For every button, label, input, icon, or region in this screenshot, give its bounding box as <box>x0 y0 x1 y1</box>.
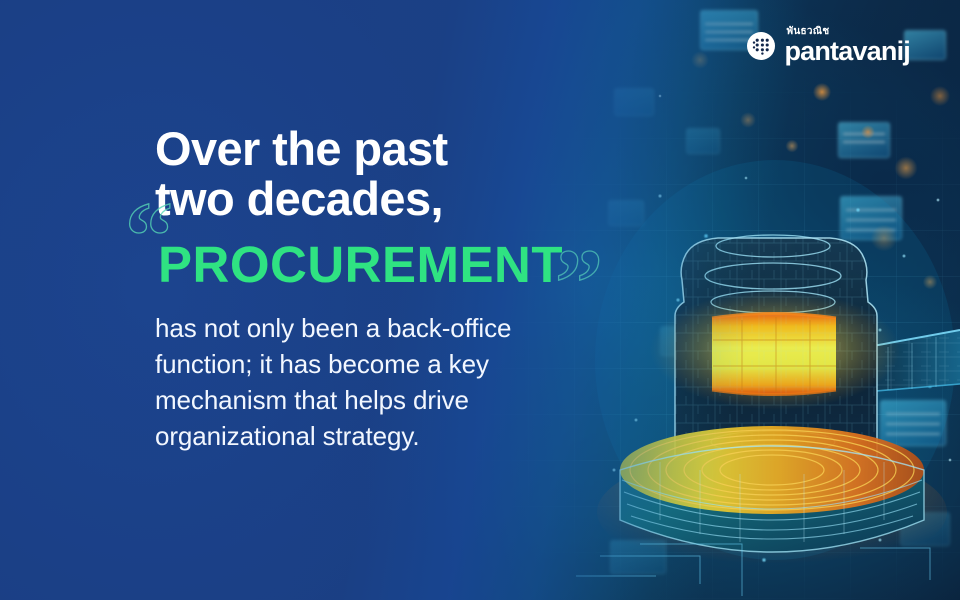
logo-latin-name: pantavanij <box>784 38 910 65</box>
quote-text-block: Over the past two decades, “ PROCUREMENT… <box>155 124 625 454</box>
headline-line-1: Over the past <box>155 124 625 174</box>
body-line-1: has not only been a back-office <box>155 310 625 346</box>
headline: Over the past two decades, <box>155 124 625 224</box>
emphasis-word: PROCUREMENT <box>158 236 563 294</box>
logo-wordmark: พันธวณิช pantavanij <box>784 27 910 65</box>
pantavanij-logo[interactable]: พันธวณิช pantavanij <box>747 27 910 65</box>
headline-line-2: two decades, <box>155 174 625 224</box>
body-line-2: function; it has become a key <box>155 346 625 382</box>
dot-grid-circle-icon <box>747 32 775 60</box>
body-line-3: mechanism that helps drive <box>155 382 625 418</box>
body-line-4: organizational strategy. <box>155 418 625 454</box>
quote-banner: Over the past two decades, “ PROCUREMENT… <box>0 0 960 600</box>
emphasis-row: “ PROCUREMENT ” <box>155 236 625 296</box>
body-copy: has not only been a back-office function… <box>155 310 625 454</box>
